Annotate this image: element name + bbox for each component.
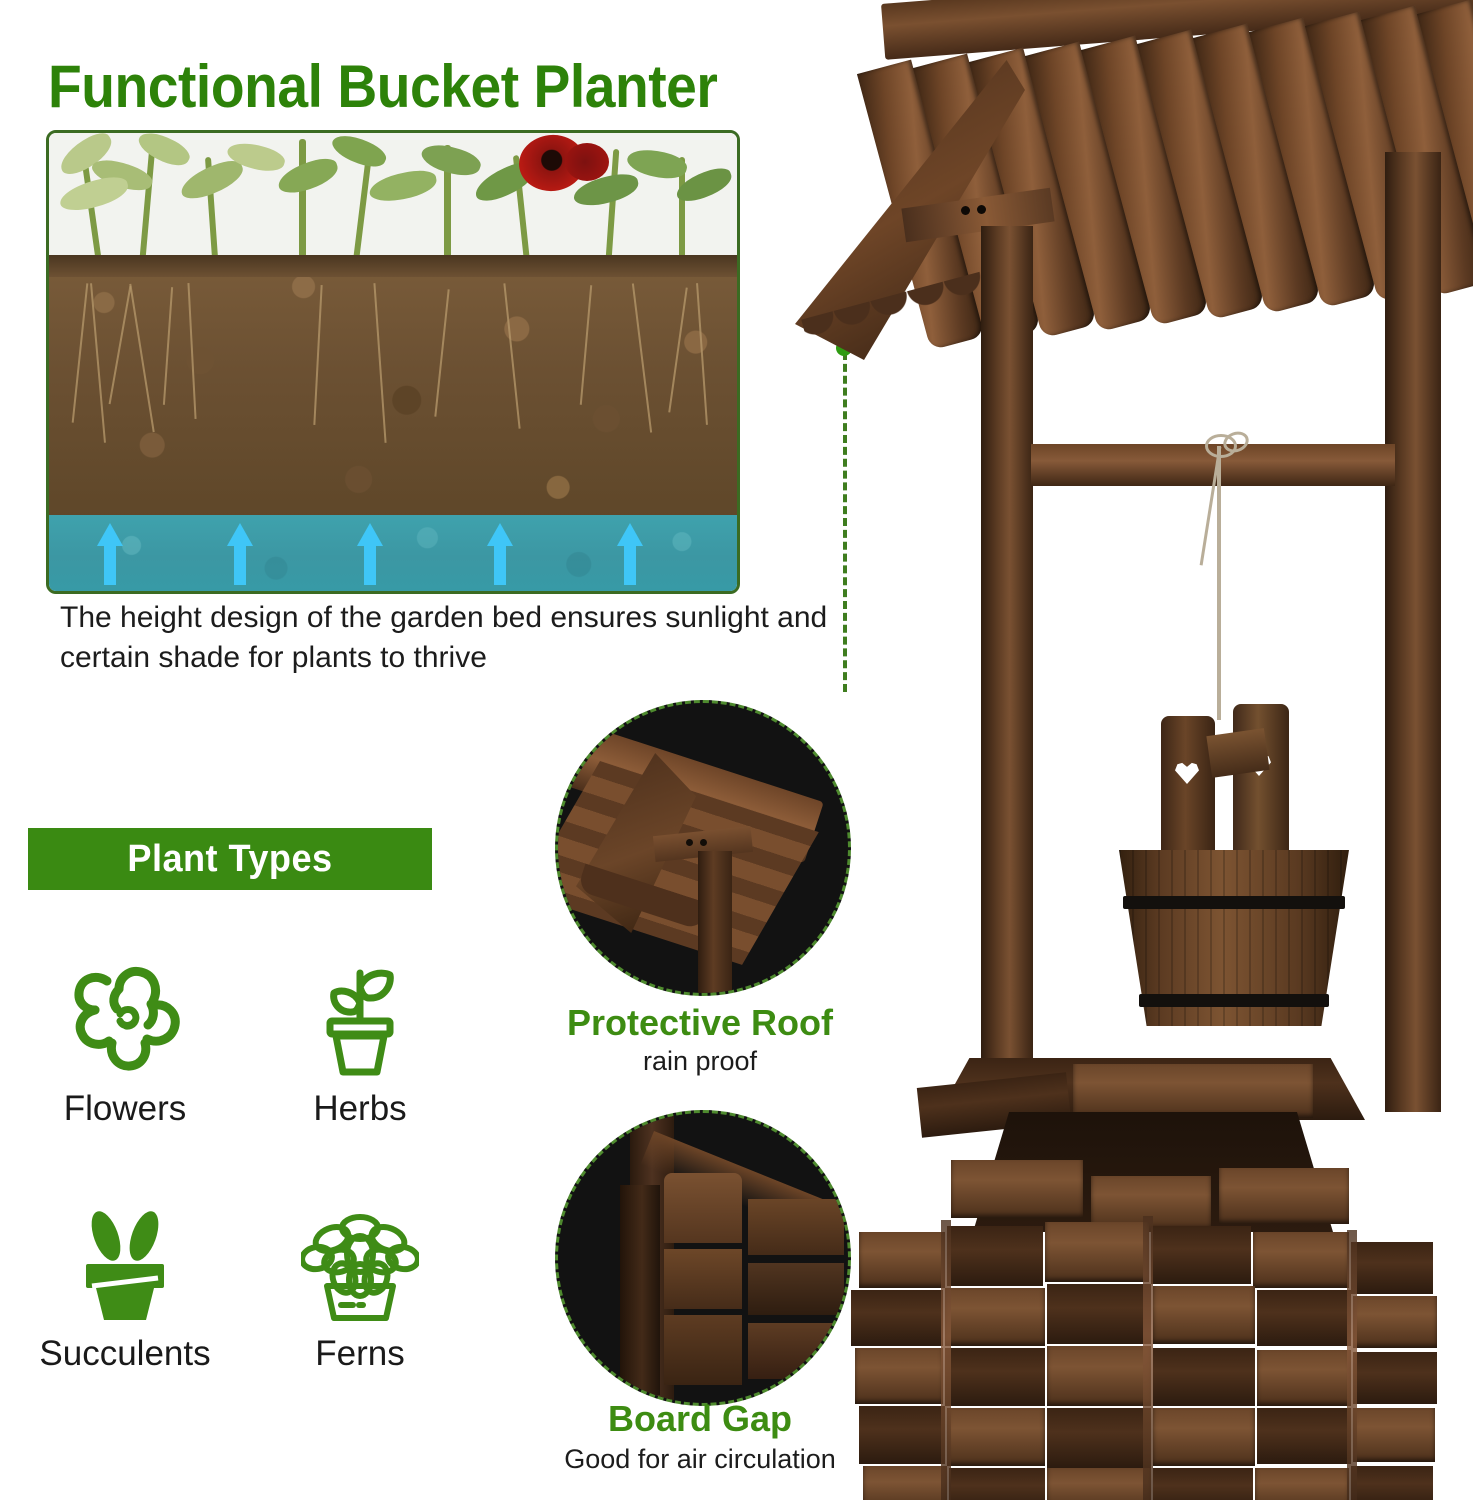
plant-type-label: Ferns [245, 1334, 475, 1374]
plant-type-item-ferns: Ferns [245, 1200, 475, 1374]
plant-type-item-herbs: Herbs [245, 955, 475, 1129]
garden-bed-caption: The height design of the garden bed ensu… [60, 598, 850, 677]
soil-surface-edge [49, 255, 737, 277]
wishing-well-planter-photo [785, 0, 1473, 1500]
plants-layer [49, 133, 737, 273]
plant-type-label: Flowers [10, 1089, 240, 1129]
plant-types-banner: Plant Types [28, 828, 432, 890]
bucket-metal-band [1123, 896, 1345, 909]
plant-types-banner-label: Plant Types [127, 838, 332, 881]
bucket-metal-band [1139, 994, 1329, 1007]
plant-type-label: Herbs [245, 1089, 475, 1129]
flower-outline-icon [10, 955, 240, 1085]
water-flow-arrow [97, 523, 123, 585]
water-layer [49, 515, 737, 591]
water-flow-arrow [357, 523, 383, 585]
water-flow-arrow [617, 523, 643, 585]
left-support-post [981, 226, 1033, 1106]
plant-type-item-succulents: Succulents [10, 1200, 240, 1374]
potted-seedling-icon [245, 955, 475, 1085]
succulent-pot-icon [10, 1200, 240, 1330]
fern-plant-icon [245, 1200, 475, 1330]
page-title: Functional Bucket Planter [48, 52, 692, 121]
twine-rope [1189, 430, 1249, 730]
plant-type-label: Succulents [10, 1334, 240, 1374]
hanging-wooden-bucket [1105, 700, 1375, 1040]
right-support-post [1385, 152, 1441, 1112]
water-flow-arrow [487, 523, 513, 585]
water-flow-arrow [227, 523, 253, 585]
octagonal-log-planter-base [823, 1050, 1473, 1500]
plant-type-item-flowers: Flowers [10, 955, 240, 1129]
garden-bed-cross-section-image [46, 130, 740, 594]
